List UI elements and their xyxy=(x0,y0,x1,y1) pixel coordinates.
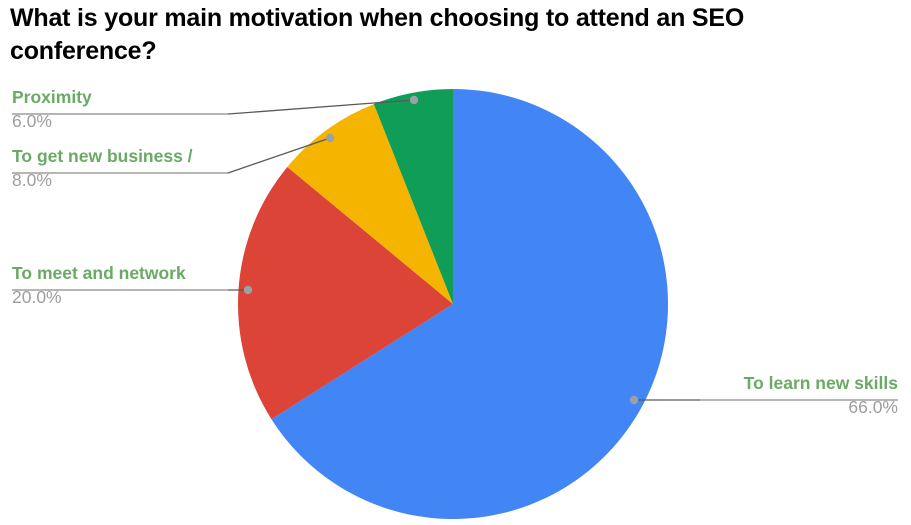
leader-dot-network xyxy=(244,286,252,294)
slice-label-proximity-category: Proximity xyxy=(12,88,224,108)
pie-chart-figure: What is your main motivation when choosi… xyxy=(0,0,911,525)
leader-dot-proximity xyxy=(410,96,418,104)
slice-label-new-business-category: To get new business / xyxy=(12,147,224,167)
slice-label-new-business: To get new business / 8.0% xyxy=(12,147,224,190)
slice-label-learn-skills: To learn new skills 66.0% xyxy=(620,374,898,417)
slice-label-new-business-percent: 8.0% xyxy=(12,167,224,191)
leader-dot-business xyxy=(326,134,334,142)
pie-slice-group: To learn new skills 66.0%To meet and net… xyxy=(238,89,668,519)
slice-label-proximity: Proximity 6.0% xyxy=(12,88,224,131)
slice-label-learn-skills-category: To learn new skills xyxy=(620,374,898,394)
slice-label-meet-network-category: To meet and network xyxy=(12,264,224,284)
slice-label-meet-network-percent: 20.0% xyxy=(12,284,224,308)
slice-label-proximity-percent: 6.0% xyxy=(12,108,224,132)
slice-label-meet-network: To meet and network 20.0% xyxy=(12,264,224,307)
slice-label-learn-skills-percent: 66.0% xyxy=(620,394,898,418)
